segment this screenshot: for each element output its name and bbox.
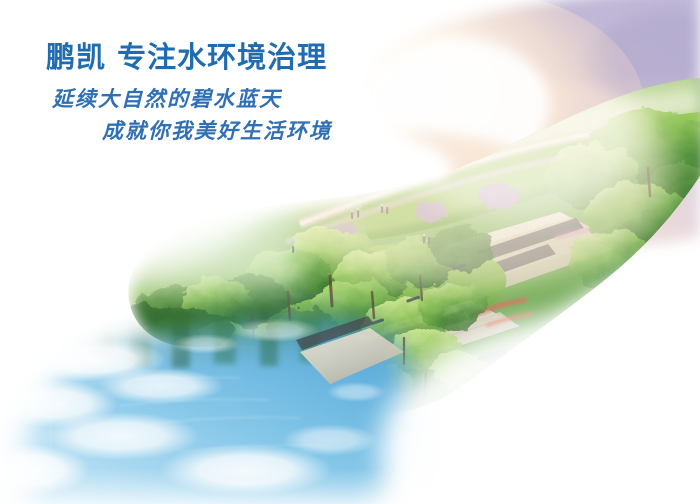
promo-banner: 鹏凯 专注水环境治理 延续大自然的碧水蓝天 成就你我美好生活环境 <box>0 0 700 504</box>
tagline-line-2: 成就你我美好生活环境 <box>46 116 420 146</box>
tagline-line-1: 延续大自然的碧水蓝天 <box>46 84 420 114</box>
headline-block: 鹏凯 专注水环境治理 延续大自然的碧水蓝天 成就你我美好生活环境 <box>0 0 420 146</box>
page-title: 鹏凯 专注水环境治理 <box>46 40 420 74</box>
